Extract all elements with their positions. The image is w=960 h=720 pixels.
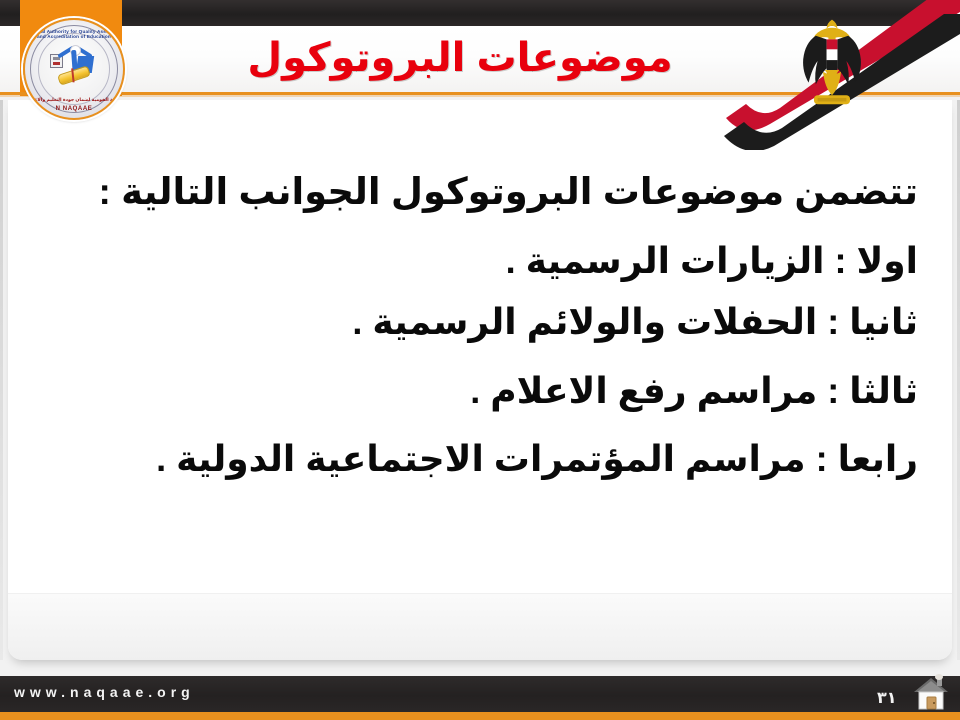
top-header-band bbox=[0, 0, 960, 26]
body-line-item-2: ثانيا : الحفلات والولائم الرسمية . bbox=[80, 295, 918, 350]
footer-accent-strip bbox=[0, 712, 960, 720]
seal-wordmark: N NAQAAE bbox=[25, 106, 123, 112]
slide-body: تتضمن موضوعات البروتوكول الجوانب التالية… bbox=[28, 112, 918, 487]
panel-left-edge bbox=[0, 100, 3, 660]
home-icon[interactable] bbox=[908, 670, 954, 716]
body-line-item-1: اولا : الزيارات الرسمية . bbox=[128, 234, 918, 289]
seal-arc-bottom-text: الهيئة القومية لضمان جودة التعليم والاعت… bbox=[25, 97, 123, 103]
slide-canvas: موضوعات البروتوكول National Authority fo… bbox=[0, 0, 960, 720]
page-number: ٣١ bbox=[877, 688, 897, 708]
naqaae-logo-icon: National Authority for Quality Assurance… bbox=[23, 18, 125, 120]
body-line-item-4: رابعا : مراسم المؤتمرات الاجتماعية الدول… bbox=[18, 432, 918, 487]
header-accent-rule-soft bbox=[0, 95, 960, 97]
page-title: موضوعات البروتوكول bbox=[180, 24, 740, 92]
body-line-item-3: ثالثا : مراسم رفع الاعلام . bbox=[118, 364, 918, 419]
home-icon-svg bbox=[908, 670, 954, 716]
body-line-intro: تتضمن موضوعات البروتوكول الجوانب التالية… bbox=[28, 164, 918, 220]
footer-website-url[interactable]: www.naqaae.org bbox=[14, 684, 195, 700]
panel-footer-area bbox=[8, 593, 952, 660]
footer-bar: www.naqaae.org bbox=[0, 676, 960, 712]
seal-arc-top-text: National Authority for Quality Assurance… bbox=[25, 29, 123, 39]
